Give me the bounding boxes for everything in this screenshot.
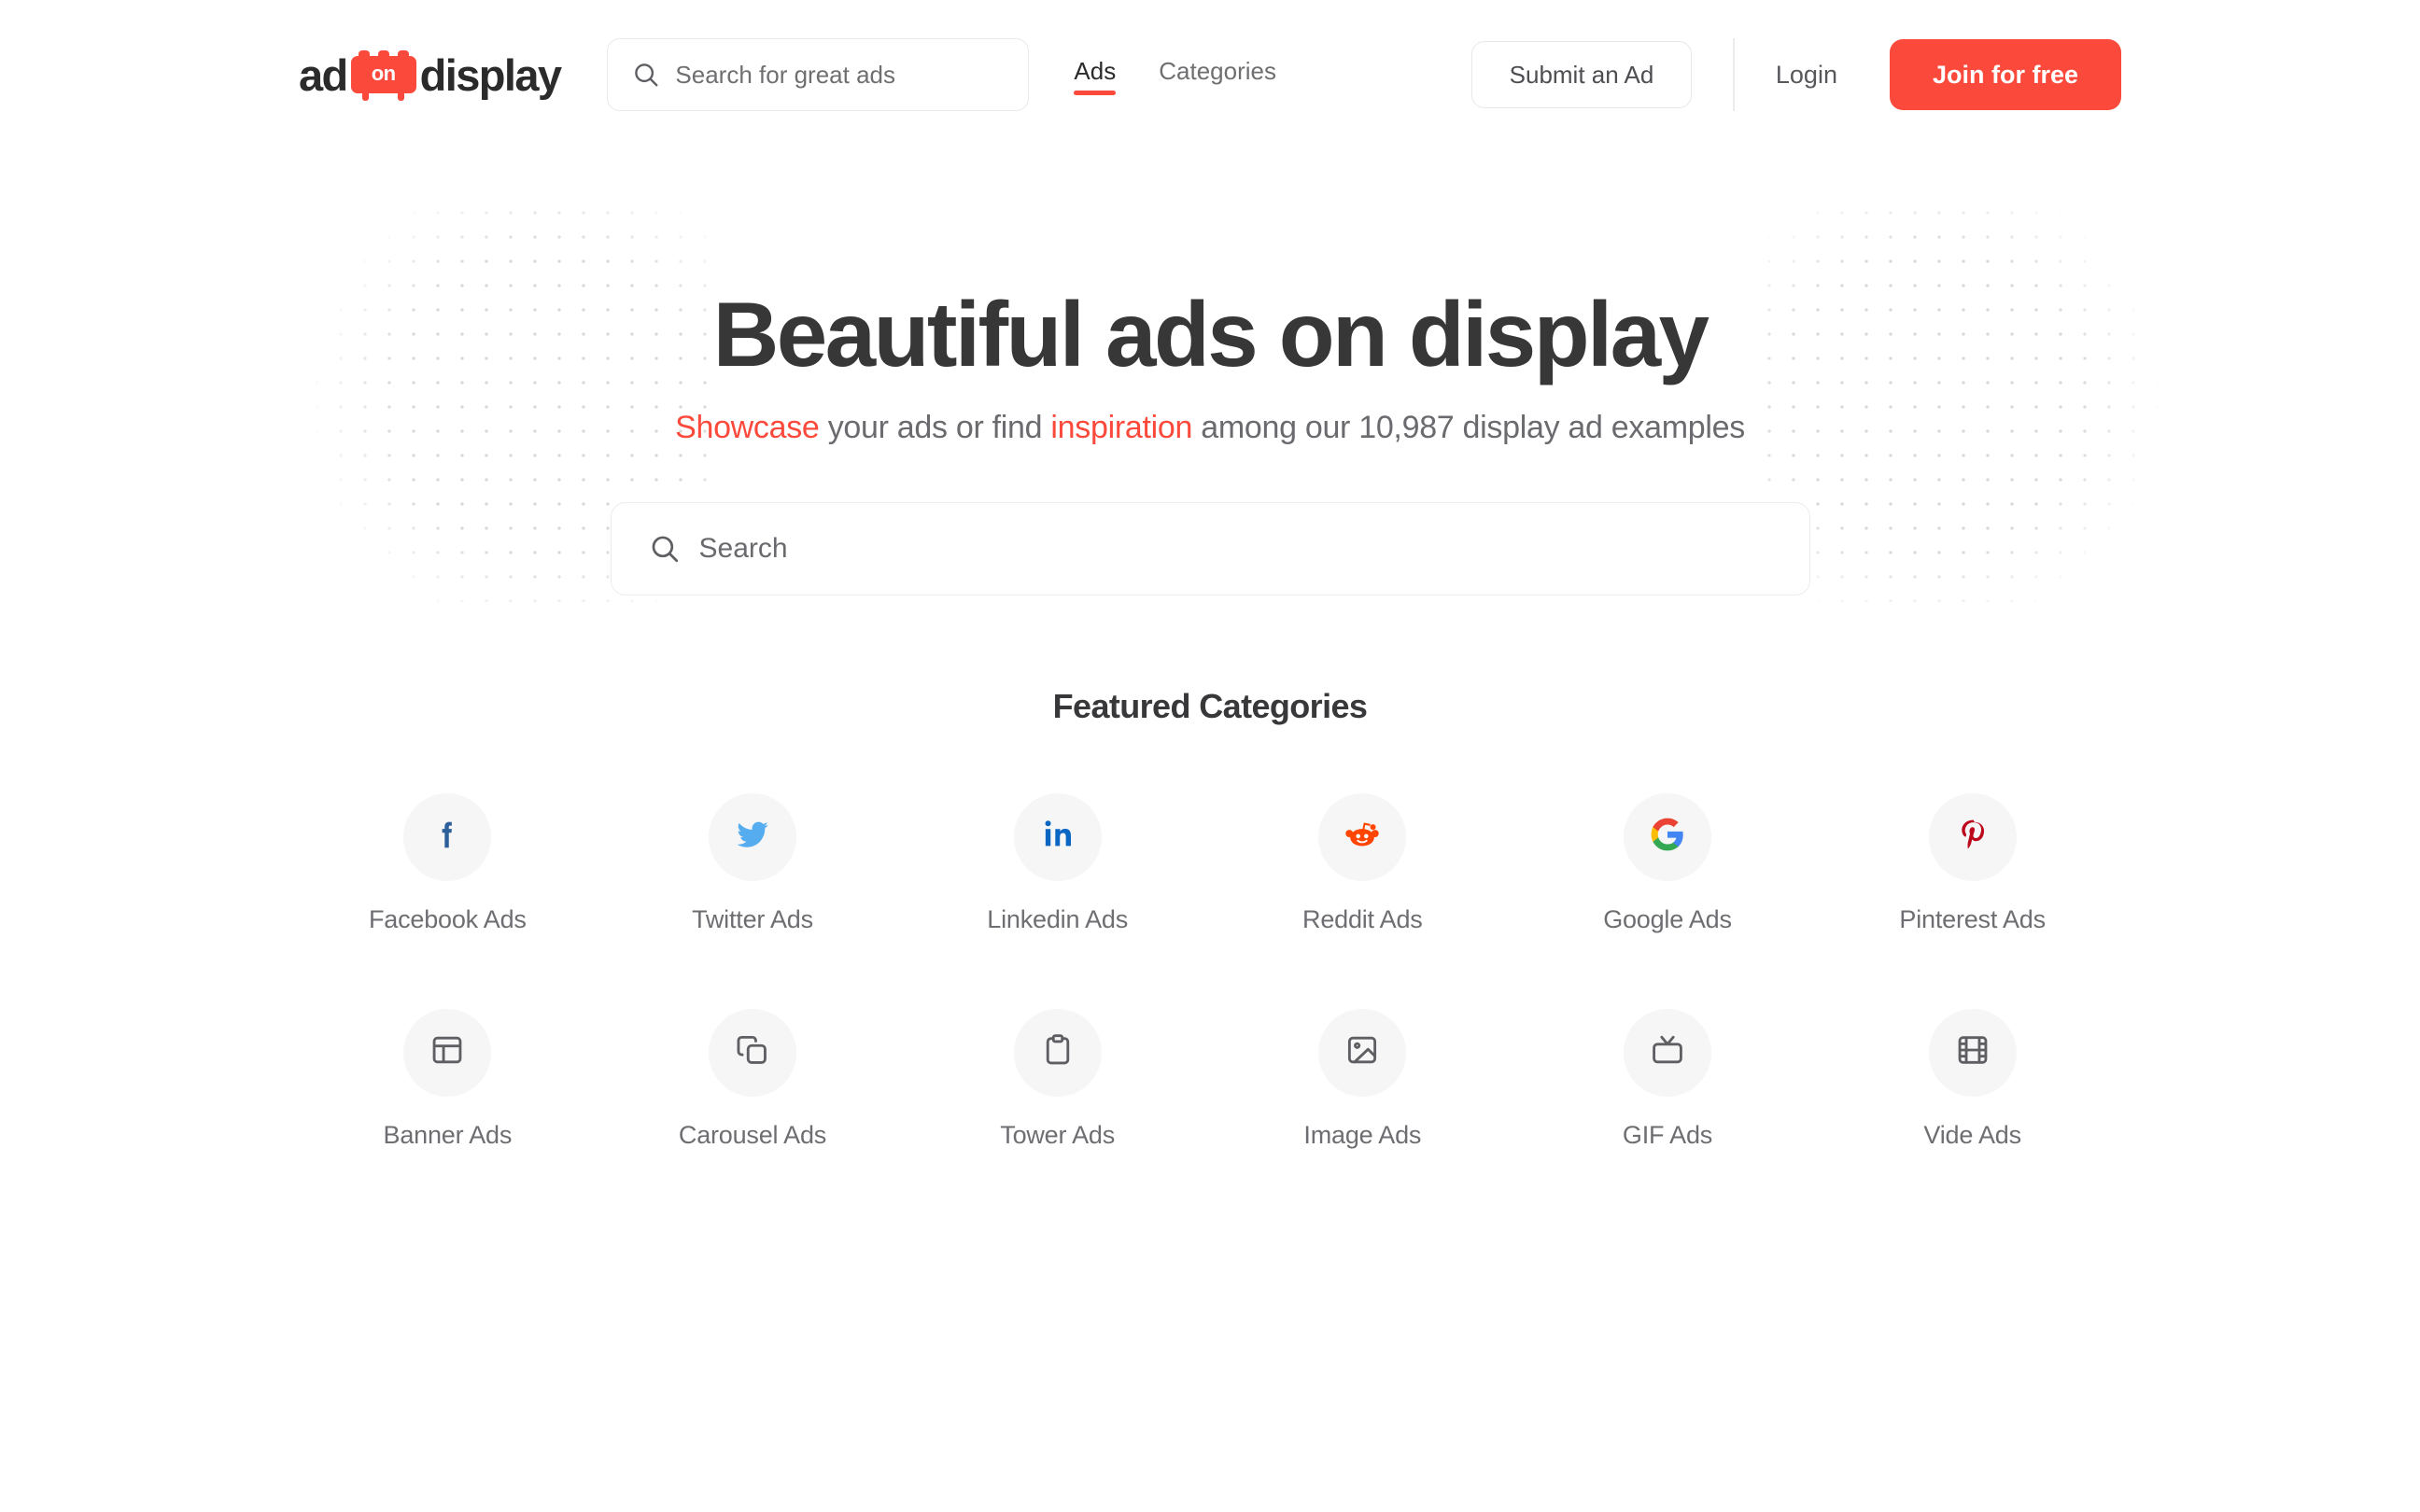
- category-item-banner[interactable]: Banner Ads: [295, 1009, 600, 1150]
- page-title: Beautiful ads on display: [0, 285, 2420, 385]
- category-label: Reddit Ads: [1302, 905, 1423, 934]
- category-item-gif[interactable]: GIF Ads: [1515, 1009, 1821, 1150]
- reddit-icon: [1344, 817, 1380, 857]
- copy-squares-icon: [735, 1032, 770, 1072]
- header-divider: [1733, 38, 1735, 111]
- hero-subtitle-inspiration: inspiration: [1050, 410, 1192, 445]
- category-label: Banner Ads: [384, 1121, 513, 1150]
- category-icon-wrapper: [1318, 793, 1406, 881]
- site-header: ad on display Ads Categories Submit an A…: [0, 0, 2420, 149]
- main-nav: Ads Categories: [1074, 57, 1276, 93]
- category-item-twitter[interactable]: Twitter Ads: [600, 793, 906, 934]
- category-item-google[interactable]: Google Ads: [1515, 793, 1821, 934]
- login-link[interactable]: Login: [1776, 61, 1837, 90]
- billboard-icon: on: [351, 50, 416, 99]
- film-strip-icon: [1955, 1032, 1991, 1072]
- search-icon: [649, 533, 681, 565]
- nav-item-ads-label: Ads: [1074, 57, 1116, 85]
- linkedin-icon: [1040, 817, 1076, 857]
- category-item-video[interactable]: Vide Ads: [1820, 1009, 2125, 1150]
- dot-pattern-right: [1757, 201, 2187, 602]
- featured-categories-title: Featured Categories: [0, 687, 2420, 726]
- category-item-facebook[interactable]: Facebook Ads: [295, 793, 600, 934]
- header-actions: Submit an Ad Login Join for free: [1471, 38, 2121, 111]
- category-icon-wrapper: [403, 1009, 491, 1097]
- submit-ad-button[interactable]: Submit an Ad: [1471, 41, 1693, 108]
- category-icon-wrapper: [1624, 1009, 1711, 1097]
- logo-text-right: display: [420, 53, 561, 97]
- category-item-carousel[interactable]: Carousel Ads: [600, 1009, 906, 1150]
- featured-categories-section: Featured Categories Facebook Ads: [0, 687, 2420, 1150]
- hero-subtitle-part4: among our 10,987 display ad examples: [1192, 410, 1745, 445]
- pinterest-icon: [1955, 817, 1991, 857]
- join-for-free-button[interactable]: Join for free: [1890, 39, 2121, 110]
- header-search-input[interactable]: [675, 61, 1004, 90]
- category-item-image[interactable]: Image Ads: [1210, 1009, 1515, 1150]
- logo-mark-text: on: [372, 63, 396, 86]
- category-label: Vide Ads: [1923, 1121, 2021, 1150]
- category-label: Twitter Ads: [692, 905, 813, 934]
- category-icon-wrapper: [709, 1009, 796, 1097]
- image-icon: [1344, 1032, 1380, 1072]
- clipboard-icon: [1040, 1032, 1076, 1072]
- category-label: GIF Ads: [1623, 1121, 1712, 1150]
- nav-item-categories[interactable]: Categories: [1159, 57, 1276, 93]
- google-icon: [1650, 817, 1685, 857]
- layout-panel-icon: [429, 1032, 465, 1072]
- site-logo[interactable]: ad on display: [299, 47, 560, 103]
- hero-search-input[interactable]: [699, 533, 1772, 565]
- hero-subtitle: Showcase your ads or find inspiration am…: [0, 410, 2420, 446]
- twitter-icon: [734, 816, 771, 858]
- category-icon-wrapper: [1014, 1009, 1102, 1097]
- category-icon-wrapper: [709, 793, 796, 881]
- category-icon-wrapper: [1929, 793, 2017, 881]
- search-icon: [632, 61, 660, 89]
- category-label: Tower Ads: [1000, 1121, 1115, 1150]
- header-search-box[interactable]: [607, 38, 1029, 111]
- category-item-tower[interactable]: Tower Ads: [905, 1009, 1210, 1150]
- category-item-linkedin[interactable]: Linkedin Ads: [905, 793, 1210, 934]
- category-label: Pinterest Ads: [1899, 905, 2046, 934]
- category-item-reddit[interactable]: Reddit Ads: [1210, 793, 1515, 934]
- category-icon-wrapper: [1624, 793, 1711, 881]
- logo-text-left: ad: [299, 53, 347, 97]
- category-grid: Facebook Ads Twitter Ads: [295, 793, 2125, 1150]
- category-label: Carousel Ads: [679, 1121, 826, 1150]
- category-label: Image Ads: [1303, 1121, 1421, 1150]
- category-icon-wrapper: [403, 793, 491, 881]
- hero-subtitle-showcase: Showcase: [675, 410, 819, 445]
- category-icon-wrapper: [1929, 1009, 2017, 1097]
- tv-icon: [1650, 1032, 1685, 1072]
- category-icon-wrapper: [1014, 793, 1102, 881]
- hero-search-box[interactable]: [611, 502, 1810, 595]
- category-item-pinterest[interactable]: Pinterest Ads: [1820, 793, 2125, 934]
- category-label: Linkedin Ads: [987, 905, 1128, 934]
- category-label: Google Ads: [1603, 905, 1732, 934]
- category-label: Facebook Ads: [369, 905, 527, 934]
- hero-section: Beautiful ads on display Showcase your a…: [0, 149, 2420, 595]
- hero-subtitle-part2: your ads or find: [820, 410, 1051, 445]
- facebook-icon: [429, 817, 465, 857]
- category-icon-wrapper: [1318, 1009, 1406, 1097]
- nav-item-categories-label: Categories: [1159, 57, 1276, 85]
- nav-item-ads[interactable]: Ads: [1074, 57, 1116, 93]
